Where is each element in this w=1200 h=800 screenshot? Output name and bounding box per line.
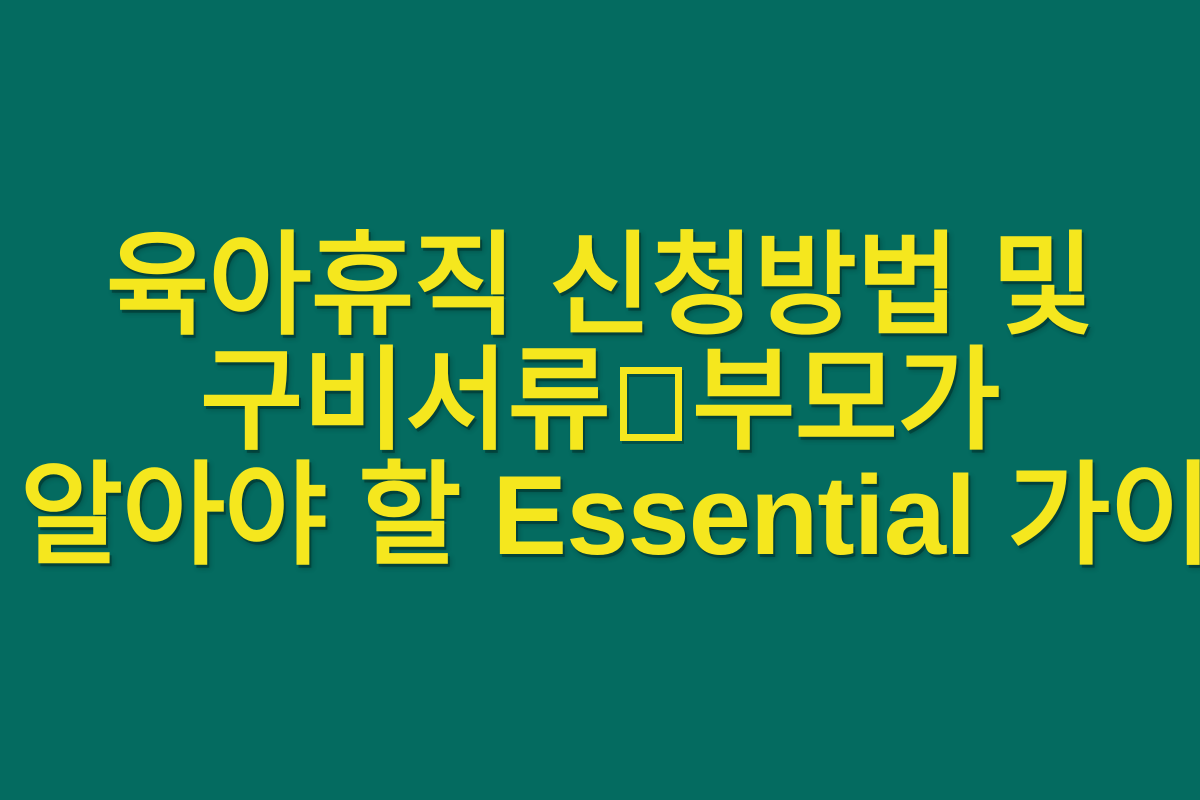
banner-headline: 육아휴직 신청방법 및 구비서류부모가 알아야 할 Essential 가이드 — [20, 228, 1180, 573]
headline-line-2-after-glyph: 부모가 — [692, 338, 1000, 463]
headline-line-2: 구비서류부모가 — [20, 343, 1180, 458]
headline-line-2-before-glyph: 구비서류 — [200, 338, 610, 463]
banner-canvas: 육아휴직 신청방법 및 구비서류부모가 알아야 할 Essential 가이드 — [0, 0, 1200, 800]
headline-line-3: 알아야 할 Essential 가이드 — [20, 458, 1180, 573]
headline-line-1: 육아휴직 신청방법 및 — [20, 228, 1180, 343]
missing-glyph-box-icon — [620, 367, 682, 441]
